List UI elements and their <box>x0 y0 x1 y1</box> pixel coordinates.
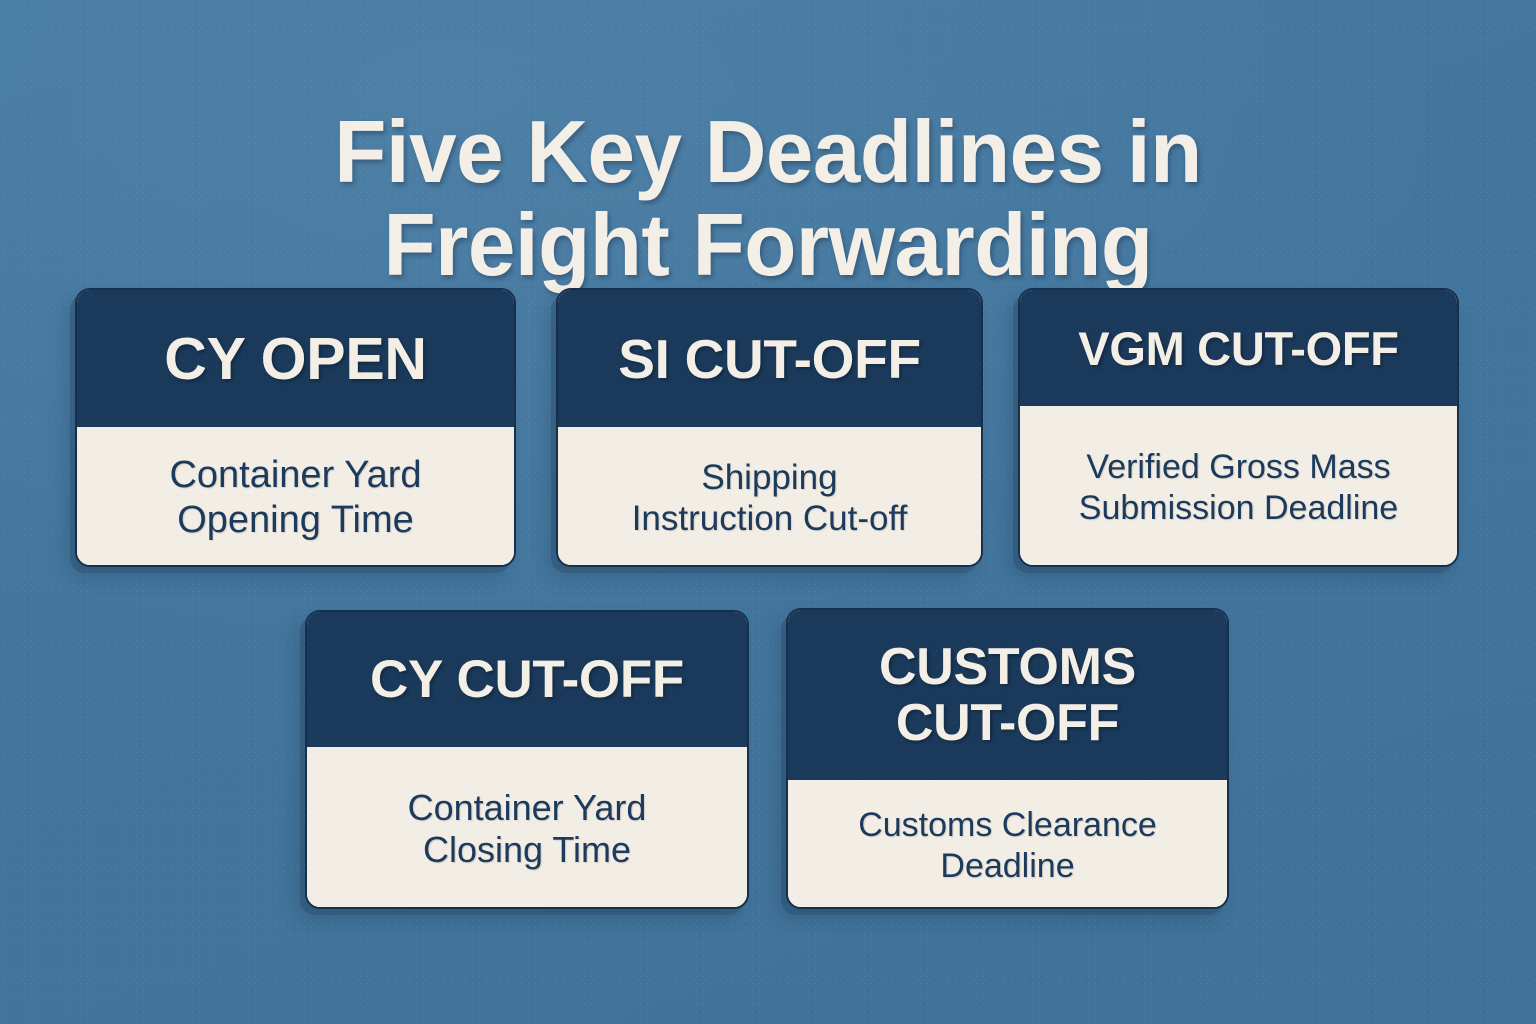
deadline-card-body-line-1: Verified Gross Mass <box>1079 447 1398 487</box>
page-title-line-1: Five Key Deadlines in <box>23 105 1513 198</box>
deadline-card-body-text: Shipping Instruction Cut-off <box>632 457 908 540</box>
deadline-card-cy-cutoff[interactable]: CY CUT-OFF Container Yard Closing Time <box>305 610 749 909</box>
deadline-card-header: VGM CUT-OFF <box>1020 290 1457 406</box>
deadline-card-body-line-2: Closing Time <box>408 829 647 871</box>
deadline-card-header: CY CUT-OFF <box>307 612 747 747</box>
infographic-canvas: Five Key Deadlines in Freight Forwarding… <box>0 0 1536 1024</box>
deadline-card-body-line-1: Container Yard <box>408 787 647 829</box>
deadline-card-header-label: SI CUT-OFF <box>618 327 921 391</box>
deadline-card-body-text: Customs Clearance Deadline <box>858 805 1157 885</box>
deadline-card-header-label: VGM CUT-OFF <box>1078 321 1398 376</box>
deadline-card-header-line-2: CUT-OFF <box>879 695 1136 751</box>
page-title-line-2: Freight Forwarding <box>23 198 1513 291</box>
deadline-card-body-line-2: Deadline <box>858 846 1157 886</box>
deadline-card-header: CY OPEN <box>77 290 514 427</box>
deadline-card-body-line-1: Container Yard <box>169 453 421 498</box>
deadline-card-body-line-1: Customs Clearance <box>858 805 1157 845</box>
deadline-card-si-cutoff[interactable]: SI CUT-OFF Shipping Instruction Cut-off <box>556 288 983 567</box>
deadline-card-header-label: CY OPEN <box>164 325 426 393</box>
deadline-card-body-text: Container Yard Closing Time <box>408 787 647 872</box>
deadline-card-header: CUSTOMS CUT-OFF <box>788 610 1227 780</box>
deadline-card-vgm-cutoff[interactable]: VGM CUT-OFF Verified Gross Mass Submissi… <box>1018 288 1459 567</box>
deadline-card-body-text: Container Yard Opening Time <box>169 453 421 543</box>
deadline-card-body-text: Verified Gross Mass Submission Deadline <box>1079 447 1398 527</box>
deadline-card-body: Verified Gross Mass Submission Deadline <box>1020 406 1457 567</box>
deadline-card-body-line-2: Opening Time <box>169 498 421 543</box>
deadline-card-cy-open[interactable]: CY OPEN Container Yard Opening Time <box>75 288 516 567</box>
deadline-card-body: Container Yard Opening Time <box>77 427 514 567</box>
deadline-card-header: SI CUT-OFF <box>558 290 981 427</box>
deadline-card-header-line-1: CUSTOMS <box>879 639 1136 695</box>
deadline-card-body-line-2: Instruction Cut-off <box>632 498 908 539</box>
deadline-card-customs-cutoff[interactable]: CUSTOMS CUT-OFF Customs Clearance Deadli… <box>786 608 1229 909</box>
page-title: Five Key Deadlines in Freight Forwarding <box>23 105 1513 292</box>
deadline-card-body: Container Yard Closing Time <box>307 747 747 909</box>
deadline-card-header-label: CUSTOMS CUT-OFF <box>879 639 1136 751</box>
deadline-card-body: Shipping Instruction Cut-off <box>558 427 981 567</box>
deadline-card-body-line-2: Submission Deadline <box>1079 488 1398 528</box>
deadline-card-header-label: CY CUT-OFF <box>370 649 684 710</box>
deadline-card-body-line-1: Shipping <box>632 457 908 498</box>
deadline-card-body: Customs Clearance Deadline <box>788 780 1227 909</box>
